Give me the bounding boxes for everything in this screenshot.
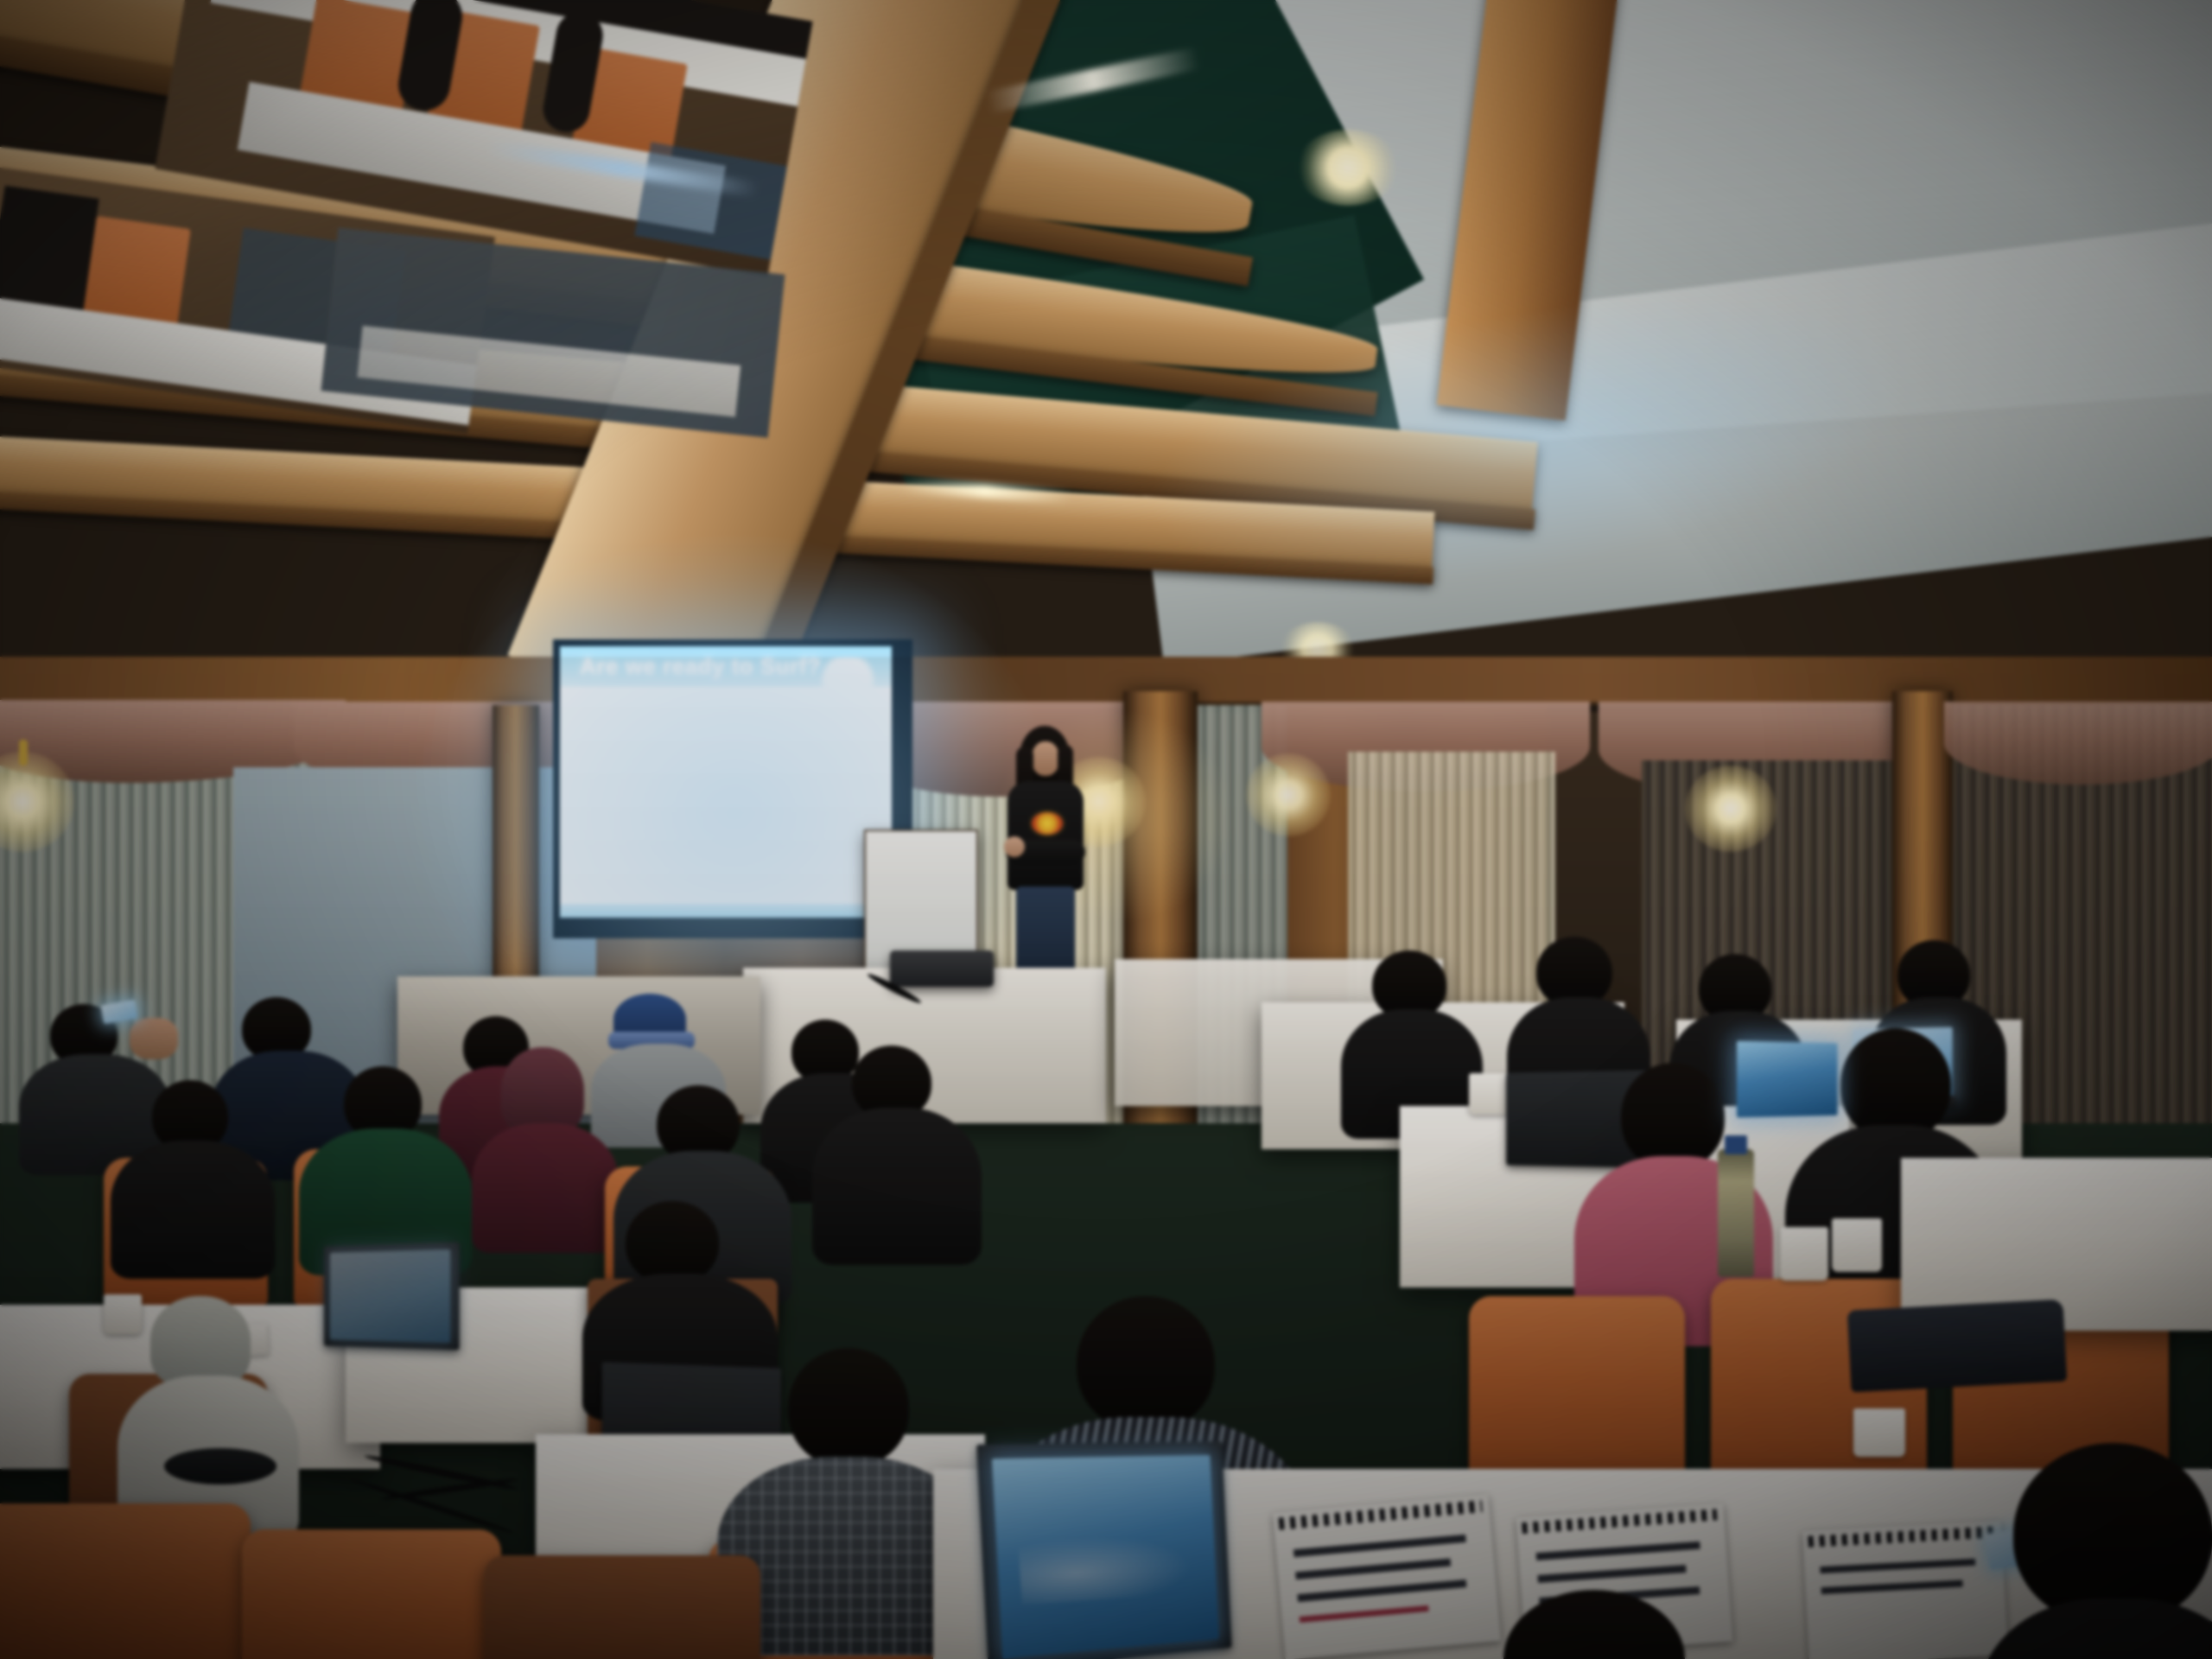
notebook-3 [1802, 1521, 2008, 1659]
wall-sconce-left-arm [19, 740, 28, 766]
presenter-tshirt-logo [1032, 812, 1063, 835]
wall-cornice [0, 657, 2212, 705]
ceiling-table-projector [890, 950, 994, 987]
hoodie-collar [164, 1448, 276, 1484]
chair-right-a [1469, 1296, 1685, 1495]
ceiling [0, 0, 2212, 691]
attendee-far-1-hand [130, 1018, 178, 1059]
chair-foreground-left [0, 1503, 251, 1659]
recessed-ceiling-light [1296, 130, 1400, 206]
laptop-bag [1847, 1300, 2068, 1393]
cup-foreground-3 [1853, 1408, 1905, 1457]
cup-foreground-1 [1780, 1227, 1828, 1281]
laptop-screen-right-glow[interactable] [1737, 1041, 1838, 1118]
slide-title: Are we ready to Surf? [580, 653, 821, 680]
slide-footer-bar [560, 904, 892, 918]
laptop-left-screen[interactable] [330, 1249, 450, 1343]
floor-area [0, 1123, 2212, 1659]
conference-room-photo: Are we ready to Surf? [0, 0, 2212, 1659]
cup-right-mid [1469, 1073, 1509, 1115]
cup-foreground-2 [1832, 1218, 1882, 1272]
chair-foreground-center [484, 1555, 760, 1659]
hoodie-hood [150, 1296, 251, 1388]
wall-sconce-far-right [1685, 766, 1777, 852]
foreground-laptop-wallpaper-swirl [1017, 1523, 1208, 1605]
presenter-hand [1004, 836, 1025, 857]
coffee-cup-left [104, 1294, 142, 1334]
presenter [994, 726, 1097, 985]
water-bottle [1718, 1149, 1754, 1277]
slide-logo-mark [814, 658, 881, 702]
slide-surface: Are we ready to Surf? [560, 646, 892, 918]
valance-far-right [1944, 702, 2212, 785]
presenter-face [1032, 741, 1059, 776]
chair-foreground-left-2 [242, 1529, 501, 1659]
notebook-1 [1273, 1494, 1501, 1659]
bottle-cap [1725, 1135, 1747, 1154]
wall-sconce-right [1246, 753, 1331, 836]
projection-screen: Are we ready to Surf? [553, 639, 912, 938]
presenter-tshirt [1007, 781, 1084, 890]
